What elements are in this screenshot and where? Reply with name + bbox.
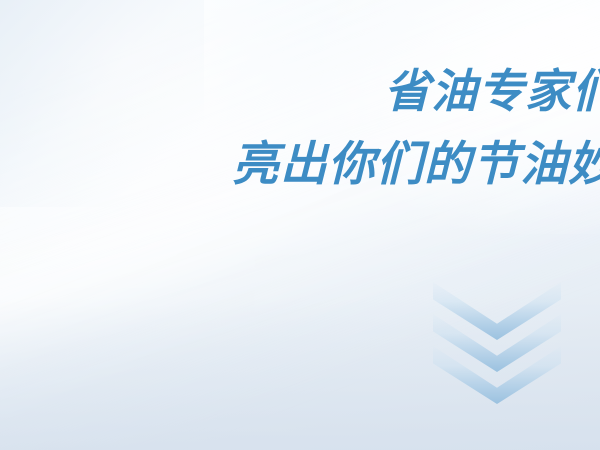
chevron-down-icon: [433, 346, 561, 404]
promo-banner: 省油专家们 亮出你们的节油妙: [0, 0, 600, 450]
background-shade-top-left: [0, 0, 204, 207]
scroll-down-arrow-stack: [433, 282, 561, 404]
